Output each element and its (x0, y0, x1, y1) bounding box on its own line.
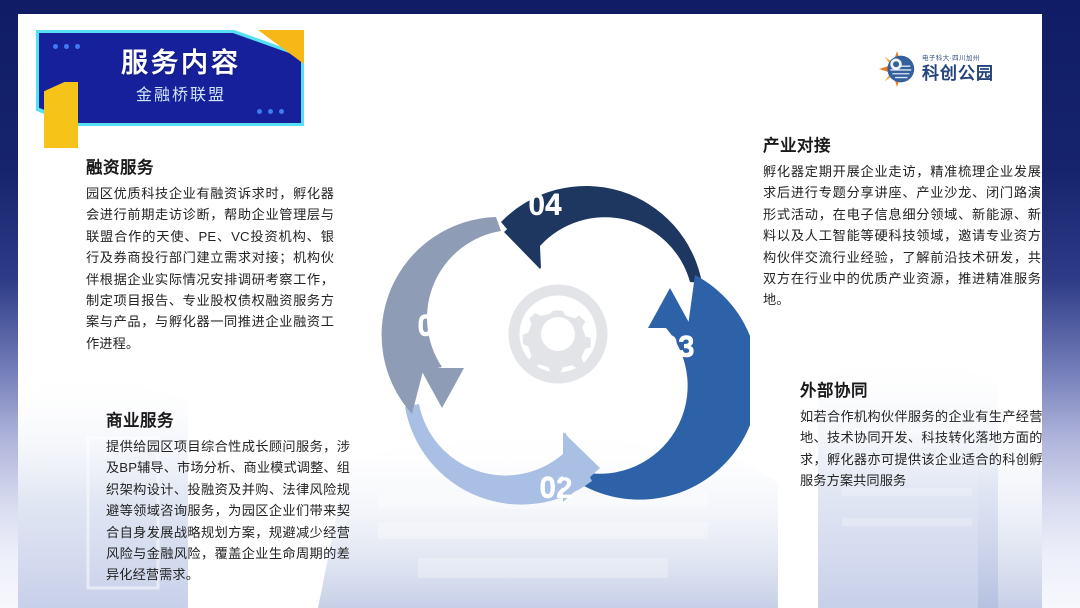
logo-name: 科创公园 (922, 65, 994, 82)
block-heading-external: 外部协同 (800, 377, 1042, 401)
arrowhead-01 (420, 368, 464, 408)
slide-content-area: 服务内容 金融桥联盟 (18, 14, 1042, 608)
service-block-financing: 融资服务 园区优质科技企业有融资诉求时，孵化器会进行前期走访诊断，帮助企业管理层… (86, 154, 334, 354)
block-body-financing: 园区优质科技企业有融资诉求时，孵化器会进行前期走访诊断，帮助企业管理层与联盟合作… (86, 183, 334, 354)
logo-subtitle: 电子科大·四川加州 (922, 56, 994, 63)
block-body-industry: 孵化器定期开展企业走访，精准梳理企业发展诉求后进行专题分享讲座、产业沙龙、闭门路… (763, 161, 1042, 311)
badge-text-group: 服务内容 金融桥联盟 (36, 30, 304, 126)
block-body-external: 如若合作机构伙伴服务的企业有生产经营场地、技术协同开发、科技转化落地方面的需求，… (800, 406, 1042, 492)
cycle-diagram: 04 03 02 01 04 03 02 (366, 142, 750, 526)
block-heading-business: 商业服务 (106, 407, 350, 431)
block-heading-industry: 产业对接 (763, 132, 1042, 156)
cycle-label-03-top: 03 (661, 331, 694, 364)
section-title-badge: 服务内容 金融桥联盟 (36, 30, 304, 126)
cycle-label-01-top: 01 (417, 310, 450, 343)
page-subtitle: 金融桥联盟 (136, 81, 226, 105)
block-body-business: 提供给园区项目综合性成长顾问服务，涉及BP辅导、市场分析、商业模式调整、组织架构… (106, 436, 350, 586)
sunburst-globe-logo-icon (878, 50, 916, 88)
brand-logo: 电子科大·四川加州 科创公园 (878, 50, 994, 88)
service-block-business: 商业服务 提供给园区项目综合性成长顾问服务，涉及BP辅导、市场分析、商业模式调整… (106, 407, 350, 586)
cycle-label-02-top: 02 (539, 472, 572, 505)
block-heading-financing: 融资服务 (86, 154, 334, 178)
service-block-industry: 产业对接 孵化器定期开展企业走访，精准梳理企业发展诉求后进行专题分享讲座、产业沙… (763, 132, 1042, 311)
cycle-label-04-top: 04 (528, 189, 562, 222)
logo-text-group: 电子科大·四川加州 科创公园 (922, 56, 994, 82)
service-block-external: 外部协同 如若合作机构伙伴服务的企业有生产经营场地、技术协同开发、科技转化落地方… (800, 377, 1042, 492)
gear-icon (514, 290, 602, 378)
page-title: 服务内容 (121, 49, 241, 77)
